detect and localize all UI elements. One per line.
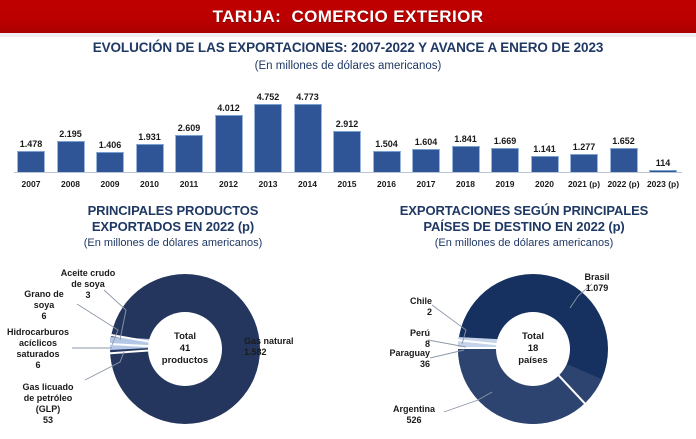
products-center-line1: Total (174, 331, 196, 343)
exports-section-subtitle: (En millones de dólares americanos) (0, 60, 696, 72)
bar-column: 1.652 (607, 136, 641, 172)
bar-rect (254, 104, 282, 172)
bar-value-label: 1.841 (454, 134, 477, 144)
bar-column: 1.669 (488, 136, 522, 172)
bar-year-label: 2021 (p) (562, 179, 606, 189)
bar-value-label: 1.504 (375, 139, 398, 149)
bar-year-label: 2010 (128, 179, 172, 189)
bar-value-label: 4.773 (296, 92, 319, 102)
bar-year-label: 2023 (p) (641, 179, 685, 189)
bar-column: 1.141 (528, 144, 562, 172)
bar-column: 1.406 (93, 140, 127, 172)
bar-rect (17, 151, 45, 172)
bar-rect (570, 154, 598, 172)
bar-rect (531, 156, 559, 172)
bar-year-label: 2018 (444, 179, 488, 189)
bar-rect (649, 170, 677, 172)
bar-rect (175, 135, 203, 172)
countries-donut-center: Total 18 países (496, 312, 570, 386)
products-center-line3: productos (162, 355, 208, 367)
bar-rect (294, 104, 322, 172)
banner-underline (0, 33, 696, 37)
bar-column: 114 (646, 158, 680, 172)
bar-column: 2.912 (330, 119, 364, 172)
bar-column: 1.931 (133, 132, 167, 172)
countries-center-line1: Total (522, 331, 544, 343)
products-center-line2: 41 (180, 343, 191, 355)
bar-chart-axis (14, 172, 682, 173)
callout-argentina: Argentina 526 (382, 404, 446, 426)
bar-value-label: 1.406 (99, 140, 122, 150)
bar-rect (373, 151, 401, 172)
bar-value-label: 1.141 (533, 144, 556, 154)
bar-year-label: 2013 (246, 179, 290, 189)
bar-value-label: 1.669 (494, 136, 517, 146)
bar-value-label: 2.609 (178, 123, 201, 133)
bar-value-label: 1.931 (138, 132, 161, 142)
bar-column: 4.773 (291, 92, 325, 172)
bar-year-label: 2019 (483, 179, 527, 189)
countries-subtitle: (En millones de dólares americanos) (358, 237, 690, 249)
bar-value-label: 2.912 (336, 119, 359, 129)
bar-year-label: 2020 (523, 179, 567, 189)
bar-year-label: 2007 (9, 179, 53, 189)
callout-grano-soya: Grano de soya 6 (8, 289, 80, 322)
bar-value-label: 1.652 (612, 136, 635, 146)
bar-rect (412, 149, 440, 172)
countries-donut-chart: Total 18 países (458, 274, 608, 424)
bar-rect (610, 148, 638, 172)
bar-rect (136, 144, 164, 172)
banner-title: TARIJA: COMERCIO EXTERIOR (0, 0, 696, 33)
exports-section-title: EVOLUCIÓN DE LAS EXPORTACIONES: 2007-202… (0, 40, 696, 55)
bar-year-label: 2009 (88, 179, 132, 189)
bar-rect (215, 115, 243, 172)
bar-value-label: 1.604 (415, 137, 438, 147)
callout-glp: Gas licuado de petróleo (GLP) 53 (8, 382, 88, 426)
countries-center-line3: países (518, 355, 548, 367)
bar-rect (57, 141, 85, 172)
bar-year-label: 2011 (167, 179, 211, 189)
bar-year-label: 2015 (325, 179, 369, 189)
callout-paraguay: Paraguay 36 (368, 348, 430, 370)
bar-year-label: 2012 (207, 179, 251, 189)
bar-value-label: 4.012 (217, 103, 240, 113)
bar-year-label: 2022 (p) (602, 179, 646, 189)
bar-column: 4.752 (251, 92, 285, 172)
callout-hidrocarburos: Hidrocarburos acíclicos saturados 6 (0, 327, 76, 371)
bar-column: 4.012 (212, 103, 246, 172)
bar-column: 2.609 (172, 123, 206, 172)
countries-title-line1: EXPORTACIONES SEGÚN PRINCIPALES (358, 203, 690, 219)
callout-gas-natural: Gas natural 1.582 (244, 336, 334, 358)
bar-value-label: 4.752 (257, 92, 280, 102)
bar-column: 1.277 (567, 142, 601, 172)
countries-title-line2: PAÍSES DE DESTINO EN 2022 (p) (358, 219, 690, 235)
countries-center-line2: 18 (528, 343, 539, 355)
bar-value-label: 114 (656, 158, 671, 168)
bar-rect (96, 152, 124, 172)
bar-rect (452, 146, 480, 172)
bar-value-label: 2.195 (59, 129, 82, 139)
bar-column: 1.478 (14, 139, 48, 172)
callout-peru: Perú 8 (382, 328, 430, 350)
products-donut-center: Total 41 productos (148, 312, 222, 386)
callout-chile: Chile 2 (384, 296, 432, 318)
bar-value-label: 1.277 (573, 142, 596, 152)
bar-rect (491, 148, 519, 172)
bar-year-label: 2008 (49, 179, 93, 189)
bar-column: 1.504 (370, 139, 404, 172)
products-title-line2: EXPORTADOS EN 2022 (p) (8, 219, 338, 235)
bar-year-label: 2016 (365, 179, 409, 189)
bar-year-label: 2014 (286, 179, 330, 189)
products-title-line1: PRINCIPALES PRODUCTOS (8, 203, 338, 219)
products-subtitle: (En millones de dólares americanos) (8, 237, 338, 249)
bar-rect (333, 131, 361, 172)
products-title: PRINCIPALES PRODUCTOS EXPORTADOS EN 2022… (8, 203, 338, 235)
countries-title: EXPORTACIONES SEGÚN PRINCIPALES PAÍSES D… (358, 203, 690, 235)
exports-bar-chart: 1.4782.1951.4061.9312.6094.0124.7524.773… (8, 84, 688, 190)
bar-value-label: 1.478 (20, 139, 43, 149)
bar-year-label: 2017 (404, 179, 448, 189)
bar-column: 2.195 (54, 129, 88, 172)
bar-column: 1.841 (449, 134, 483, 172)
callout-brasil: Brasil 1.079 (572, 272, 622, 294)
infographic-page: TARIJA: COMERCIO EXTERIOR EVOLUCIÓN DE L… (0, 0, 696, 439)
bar-column: 1.604 (409, 137, 443, 172)
